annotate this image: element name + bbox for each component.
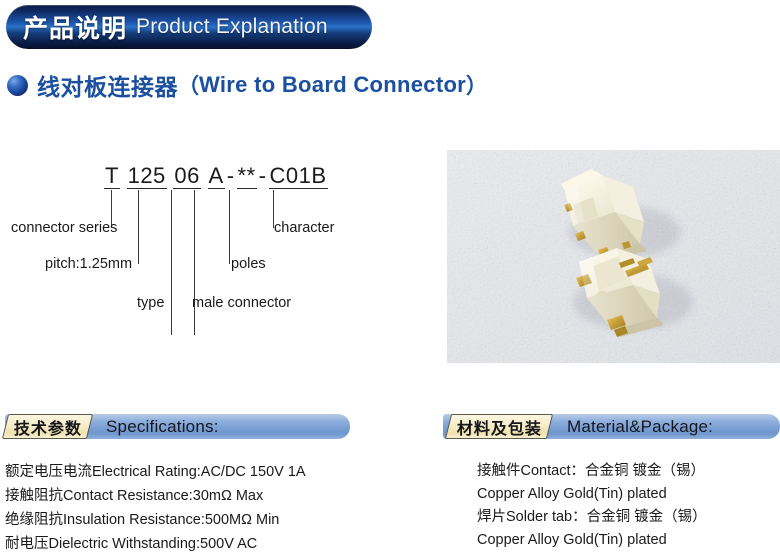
leader-line-type <box>171 190 172 335</box>
spec-line: 额定电压电流Electrical Rating:AC/DC 150V 1A <box>5 460 435 484</box>
spec-line: 绝缘阻抗Insulation Resistance:500MΩ Min <box>5 508 435 532</box>
material-package-header-en: Material&Package: <box>567 414 713 439</box>
leader-line-male-connector <box>194 190 195 335</box>
pn-separator-1: - <box>225 163 237 188</box>
subtitle-paren-close: ） <box>466 70 487 100</box>
material-package-section-header: 材料及包装 Material&Package: <box>443 414 780 439</box>
part-number-breakdown-diagram: T 125 06 A-**-C01B connector series pitc… <box>0 150 430 330</box>
pn-segment-character: C01B <box>269 163 328 189</box>
spec-line: 耐电压Dielectric Withstanding:500V AC <box>5 532 435 556</box>
pn-segment-series: T <box>104 163 120 189</box>
pn-label-type: type <box>137 295 164 311</box>
wire-to-board-connector-photo <box>447 150 780 363</box>
material-line: 接触件Contact：合金铜 镀金（锡） <box>477 460 777 483</box>
leader-line-pitch <box>138 190 139 264</box>
specifications-section-header: 技术参数 Specifications: <box>5 414 350 439</box>
pn-segment-gender: A <box>208 163 225 189</box>
material-line: 焊片Solder tab：合金铜 镀金（锡） <box>477 506 777 529</box>
specifications-list: 额定电压电流Electrical Rating:AC/DC 150V 1A 接触… <box>5 460 435 556</box>
part-number-string: T 125 06 A-**-C01B <box>104 163 328 189</box>
specifications-header-cn-text: 技术参数 <box>14 415 82 439</box>
pn-label-pitch: pitch:1.25mm <box>45 256 132 272</box>
specifications-header-en: Specifications: <box>106 414 219 439</box>
material-line: Copper Alloy Gold(Tin) plated <box>477 529 777 552</box>
subtitle-paren-open: （ <box>178 70 199 100</box>
pn-segment-type: 06 <box>173 163 200 189</box>
leader-line-poles <box>229 190 230 264</box>
material-package-header-cn-text: 材料及包装 <box>457 415 542 439</box>
pn-segment-pitch: 125 <box>127 163 167 189</box>
product-subtitle: 线对板连接器 （ Wire to Board Connector ） <box>7 68 487 102</box>
pn-segment-poles: ** <box>237 163 257 189</box>
pn-separator-2: - <box>257 163 269 188</box>
subtitle-cn: 线对板连接器 <box>37 68 178 102</box>
blue-sphere-bullet-icon <box>7 75 28 96</box>
subtitle-en: Wire to Board Connector <box>199 72 466 98</box>
page-title-en: Product Explanation <box>136 15 328 39</box>
pn-label-poles: poles <box>231 256 266 272</box>
page-title-cn: 产品说明 <box>23 9 127 45</box>
specifications-header-cn: 技术参数 <box>2 414 93 439</box>
pn-label-connector-series: connector series <box>11 220 117 236</box>
page-title-banner: 产品说明 Product Explanation <box>6 5 372 49</box>
spec-line: 接触阻抗Contact Resistance:30mΩ Max <box>5 484 435 508</box>
material-package-list: 接触件Contact：合金铜 镀金（锡） Copper Alloy Gold(T… <box>477 460 777 552</box>
pn-label-character: character <box>274 220 334 236</box>
material-line: Copper Alloy Gold(Tin) plated <box>477 483 777 506</box>
pn-label-male-connector: male connector <box>192 295 291 311</box>
material-package-header-cn: 材料及包装 <box>445 414 553 439</box>
